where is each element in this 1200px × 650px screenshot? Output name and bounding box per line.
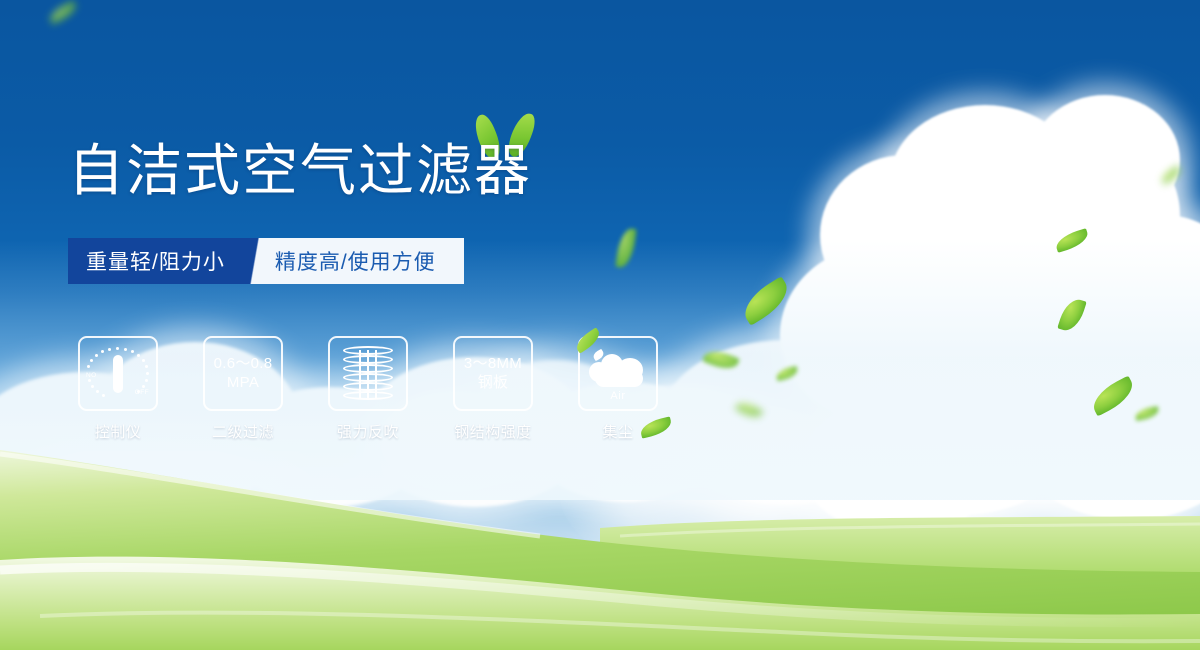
cloud-haze-left xyxy=(0,420,360,590)
leaf-decoration xyxy=(47,0,80,24)
leaf-decoration xyxy=(615,227,636,269)
leaf-decoration xyxy=(737,276,795,326)
pressure-value-icon: 0.6～0.8 MPA xyxy=(203,336,283,411)
filter-coil-icon xyxy=(328,336,408,411)
leaf-decoration xyxy=(1159,165,1183,185)
grass-field xyxy=(0,420,1200,650)
feature-label-backwash: 强力反吹 xyxy=(337,421,399,442)
subtitle-divider xyxy=(245,238,271,284)
gauge-label-off: OFF xyxy=(135,389,149,396)
subtitle-badge-left: 重量轻/阻力小 xyxy=(68,238,245,284)
leaf-decoration xyxy=(775,366,799,381)
feature-list: NO OFF 控制仪 0.6～0.8 MPA 二级过滤 xyxy=(78,336,658,442)
feature-label-two-stage-filter: 二级过滤 xyxy=(212,421,274,442)
pressure-range-text: 0.6～0.8 xyxy=(214,355,273,373)
feature-label-dust-collection: 集尘 xyxy=(602,421,633,442)
gauge-dial: NO OFF xyxy=(87,346,149,402)
feature-item-controller[interactable]: NO OFF 控制仪 xyxy=(78,336,158,442)
cloud-cumulus-right xyxy=(780,95,1200,515)
steel-thickness-text: 3～8MM xyxy=(464,355,522,373)
feature-item-steel-strength[interactable]: 3～8MM 钢板 钢结构强度 xyxy=(453,336,533,442)
feature-label-steel-strength: 钢结构强度 xyxy=(454,421,532,442)
leaf-decoration xyxy=(1057,296,1087,335)
steel-plate-text: 钢板 xyxy=(478,374,509,392)
subtitle-bar: 重量轻/阻力小 精度高/使用方便 xyxy=(68,238,464,284)
feature-item-dust-collection[interactable]: Air 集尘 xyxy=(578,336,658,442)
air-cloud-icon: Air xyxy=(578,336,658,411)
cloud-haze-right xyxy=(760,330,1200,580)
gauge-needle xyxy=(113,355,123,393)
pressure-unit-text: MPA xyxy=(227,374,259,392)
gauge-icon: NO OFF xyxy=(78,336,158,411)
cloud-shape: Air xyxy=(587,348,649,400)
air-label: Air xyxy=(587,390,649,402)
feature-item-two-stage-filter[interactable]: 0.6～0.8 MPA 二级过滤 xyxy=(203,336,283,442)
page-title: 自洁式空气过滤器 xyxy=(68,143,532,199)
leaf-decoration xyxy=(1134,406,1160,421)
subtitle-badge-right: 精度高/使用方便 xyxy=(271,238,464,284)
leaf-decoration xyxy=(1088,375,1139,416)
leaf-decoration xyxy=(1054,228,1091,253)
feature-item-backwash[interactable]: 强力反吹 xyxy=(328,336,408,442)
steel-plate-icon: 3～8MM 钢板 xyxy=(453,336,533,411)
promo-banner: 自洁式空气过滤器 重量轻/阻力小 精度高/使用方便 xyxy=(0,0,1200,650)
leaf-decoration xyxy=(735,398,764,421)
feature-label-controller: 控制仪 xyxy=(95,421,142,442)
leaf-decoration xyxy=(702,346,740,374)
coil-stack xyxy=(343,346,393,402)
gauge-label-no: NO xyxy=(86,372,97,379)
